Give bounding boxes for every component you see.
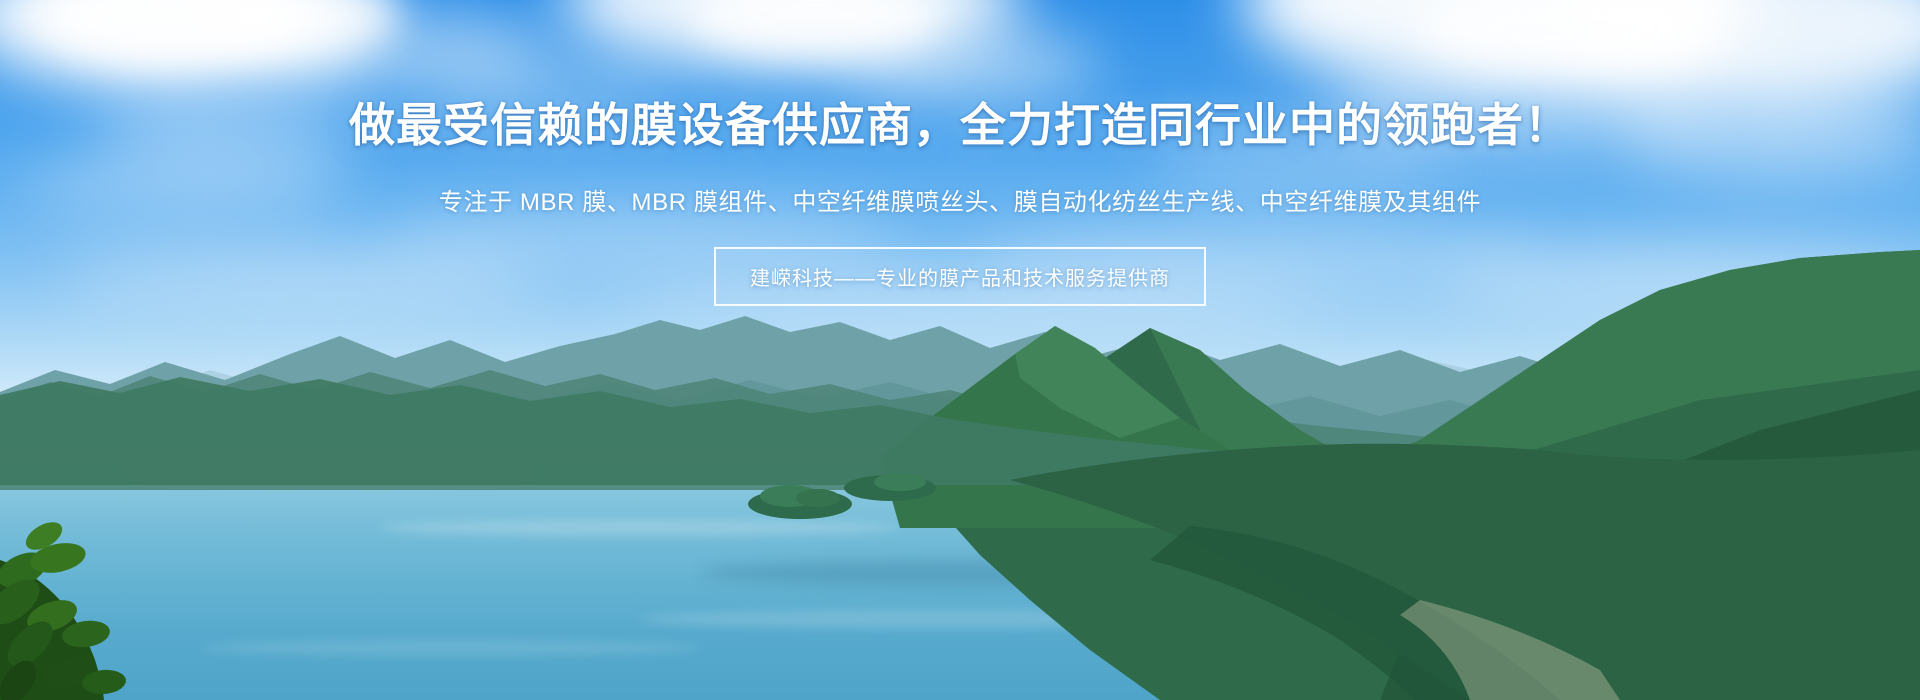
cloud [1620,90,1920,180]
cloud [430,60,670,120]
cloud [20,150,350,220]
cloud [840,30,1100,100]
foreground-foliage [0,420,230,700]
shoreline-right [0,440,1920,700]
cloud [1150,120,1450,190]
hero-banner: 做最受信赖的膜设备供应商，全力打造同行业中的领跑者！ 专注于 MBR 膜、MBR… [0,0,1920,700]
